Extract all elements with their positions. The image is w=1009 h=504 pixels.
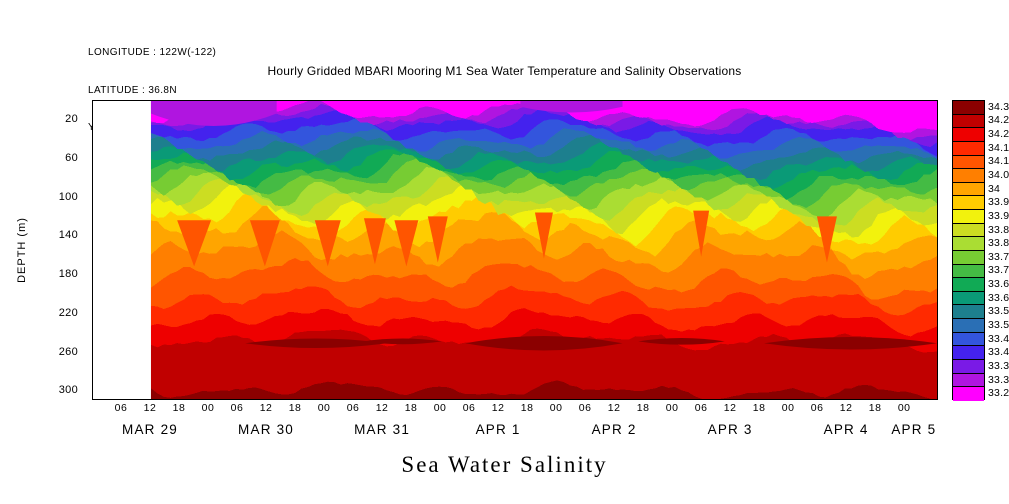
y-tick bbox=[92, 159, 93, 160]
colorbar-tick-label: 33.7 bbox=[988, 264, 1009, 276]
x-axis-hour-label: 00 bbox=[318, 402, 331, 414]
colorbar-tick-label: 33.55 bbox=[988, 305, 1009, 317]
chart-title: Hourly Gridded MBARI Mooring M1 Sea Wate… bbox=[0, 64, 1009, 78]
colorbar-swatch bbox=[953, 237, 984, 251]
x-axis-date-label: APR 4 bbox=[824, 422, 869, 437]
colorbar-tick-label: 34.05 bbox=[988, 169, 1009, 181]
colorbar-tick-label: 33.45 bbox=[988, 333, 1009, 345]
x-axis-hour-label: 00 bbox=[202, 402, 215, 414]
colorbar-tick-label: 34.1 bbox=[988, 155, 1009, 167]
x-axis-date-label: APR 2 bbox=[592, 422, 637, 437]
y-tick-right bbox=[937, 372, 938, 373]
y-tick bbox=[92, 198, 93, 199]
y-axis-label: 180 bbox=[59, 268, 78, 280]
colorbar-tick-label: 33.95 bbox=[988, 196, 1009, 208]
x-axis-hour-label: 18 bbox=[173, 402, 186, 414]
colorbar-tick-label: 33.6 bbox=[988, 292, 1009, 304]
x-axis-hour-label: 12 bbox=[144, 402, 157, 414]
x-axis-hour-label: 00 bbox=[550, 402, 563, 414]
x-axis-hour-label: 00 bbox=[898, 402, 911, 414]
colorbar-tick-label: 33.5 bbox=[988, 319, 1009, 331]
y-tick bbox=[92, 140, 93, 141]
colorbar-tick-label: 34 bbox=[988, 183, 1000, 195]
colorbar-swatch bbox=[953, 374, 984, 388]
y-tick-right bbox=[937, 178, 938, 179]
colorbar-tick-label: 34.15 bbox=[988, 142, 1009, 154]
x-axis-date-label: MAR 29 bbox=[122, 422, 178, 437]
y-tick-right bbox=[937, 140, 938, 141]
x-axis-hour-label: 12 bbox=[840, 402, 853, 414]
colorbar-swatch bbox=[953, 305, 984, 319]
y-tick bbox=[92, 314, 93, 315]
colorbar-tick-label: 34.3 bbox=[988, 101, 1009, 113]
colorbar-swatch bbox=[953, 346, 984, 360]
y-tick bbox=[92, 353, 93, 354]
y-tick-right bbox=[937, 333, 938, 334]
y-tick-right bbox=[937, 120, 938, 121]
colorbar-swatch bbox=[953, 115, 984, 129]
y-axis-labels: 2060100140180220260300 bbox=[0, 100, 92, 400]
y-tick bbox=[92, 295, 93, 296]
y-tick-right bbox=[937, 217, 938, 218]
y-axis-label: 260 bbox=[59, 346, 78, 358]
x-axis-hour-label: 06 bbox=[811, 402, 824, 414]
colorbar-swatch bbox=[953, 265, 984, 279]
x-axis-hour-label: 12 bbox=[724, 402, 737, 414]
colorbar-swatch bbox=[953, 360, 984, 374]
colorbar-tick-label: 33.3 bbox=[988, 374, 1009, 386]
x-axis-hour-label: 18 bbox=[521, 402, 534, 414]
x-axis-hour-label: 00 bbox=[434, 402, 447, 414]
colorbar-tick-label: 33.8 bbox=[988, 237, 1009, 249]
x-axis-hour-label: 06 bbox=[579, 402, 592, 414]
x-axis-hour-label: 06 bbox=[463, 402, 476, 414]
colorbar-swatch bbox=[953, 278, 984, 292]
colorbar-swatch bbox=[953, 387, 984, 401]
colorbar-tick-label: 33.75 bbox=[988, 251, 1009, 263]
y-axis-label: 100 bbox=[59, 191, 78, 203]
colorbar-swatch bbox=[953, 142, 984, 156]
y-tick-right bbox=[937, 295, 938, 296]
y-tick bbox=[92, 178, 93, 179]
y-tick bbox=[92, 236, 93, 237]
x-axis-date-label: APR 1 bbox=[476, 422, 521, 437]
salinity-contour-plot bbox=[92, 100, 938, 400]
y-axis-label: 20 bbox=[65, 113, 78, 125]
y-tick bbox=[92, 333, 93, 334]
y-tick-right bbox=[937, 275, 938, 276]
x-axis-date-label: MAR 30 bbox=[238, 422, 294, 437]
colorbar-tick-label: 34.25 bbox=[988, 114, 1009, 126]
colorbar-swatch bbox=[953, 156, 984, 170]
latitude-text: LATITUDE : 36.8N bbox=[88, 85, 216, 98]
colorbar-swatch bbox=[953, 319, 984, 333]
y-tick-right bbox=[937, 314, 938, 315]
x-axis-hour-label: 18 bbox=[753, 402, 766, 414]
x-axis-hour-label: 18 bbox=[289, 402, 302, 414]
colorbar-tick-label: 33.4 bbox=[988, 346, 1009, 358]
colorbar-swatch bbox=[953, 128, 984, 142]
y-tick-right bbox=[937, 236, 938, 237]
y-axis-title: DEPTH (m) bbox=[16, 217, 28, 283]
no-data-region bbox=[93, 101, 151, 399]
y-axis-label: 220 bbox=[59, 307, 78, 319]
x-axis-hour-label: 12 bbox=[492, 402, 505, 414]
colorbar-swatch bbox=[953, 251, 984, 265]
x-axis-hour-label: 18 bbox=[405, 402, 418, 414]
x-axis-hour-label: 18 bbox=[637, 402, 650, 414]
colorbar-swatch bbox=[953, 333, 984, 347]
x-axis-hour-label: 12 bbox=[608, 402, 621, 414]
colorbar-tick-label: 33.25 bbox=[988, 387, 1009, 399]
y-tick bbox=[92, 372, 93, 373]
colorbar-swatch bbox=[953, 196, 984, 210]
x-axis-date-label: APR 5 bbox=[891, 422, 936, 437]
colorbar-tick-label: 34.2 bbox=[988, 128, 1009, 140]
x-axis-hour-label: 18 bbox=[869, 402, 882, 414]
x-axis-hour-label: 06 bbox=[347, 402, 360, 414]
x-axis-hour-label: 12 bbox=[260, 402, 273, 414]
x-axis-hour-label: 00 bbox=[666, 402, 679, 414]
x-axis-hour-label: 06 bbox=[695, 402, 708, 414]
y-axis-label: 140 bbox=[59, 229, 78, 241]
y-tick bbox=[92, 256, 93, 257]
colorbar-tick-label: 33.85 bbox=[988, 224, 1009, 236]
x-axis-hour-labels: 0612180006121800061218000612180006121800… bbox=[92, 402, 938, 418]
y-tick-right bbox=[937, 391, 938, 392]
x-axis-date-label: APR 3 bbox=[708, 422, 753, 437]
y-tick bbox=[92, 217, 93, 218]
x-axis-hour-label: 06 bbox=[115, 402, 128, 414]
y-tick-right bbox=[937, 159, 938, 160]
y-tick bbox=[92, 120, 93, 121]
longitude-text: LONGITUDE : 122W(-122) bbox=[88, 47, 216, 60]
salinity-colorbar bbox=[952, 100, 985, 400]
colorbar-swatch bbox=[953, 292, 984, 306]
x-axis-hour-label: 00 bbox=[782, 402, 795, 414]
x-axis-hour-label: 12 bbox=[376, 402, 389, 414]
colorbar-tick-label: 33.35 bbox=[988, 360, 1009, 372]
y-axis-label: 300 bbox=[59, 384, 78, 396]
x-axis-hour-label: 06 bbox=[231, 402, 244, 414]
colorbar-swatch bbox=[953, 169, 984, 183]
y-tick bbox=[92, 275, 93, 276]
x-axis-date-labels: MAR 29MAR 30MAR 31APR 1APR 2APR 3APR 4AP… bbox=[92, 422, 938, 444]
y-tick-right bbox=[937, 198, 938, 199]
y-tick bbox=[92, 391, 93, 392]
colorbar-swatch bbox=[953, 210, 984, 224]
y-tick-right bbox=[937, 256, 938, 257]
colorbar-labels: 34.334.2534.234.1534.134.053433.9533.933… bbox=[988, 100, 1009, 400]
plot-caption: Sea Water Salinity bbox=[0, 452, 1009, 478]
y-axis-label: 60 bbox=[65, 152, 78, 164]
colorbar-swatch bbox=[953, 183, 984, 197]
salinity-field bbox=[93, 101, 937, 399]
x-axis-date-label: MAR 31 bbox=[354, 422, 410, 437]
colorbar-swatch bbox=[953, 224, 984, 238]
colorbar-tick-label: 33.65 bbox=[988, 278, 1009, 290]
y-tick-right bbox=[937, 353, 938, 354]
colorbar-swatch bbox=[953, 101, 984, 115]
colorbar-tick-label: 33.9 bbox=[988, 210, 1009, 222]
